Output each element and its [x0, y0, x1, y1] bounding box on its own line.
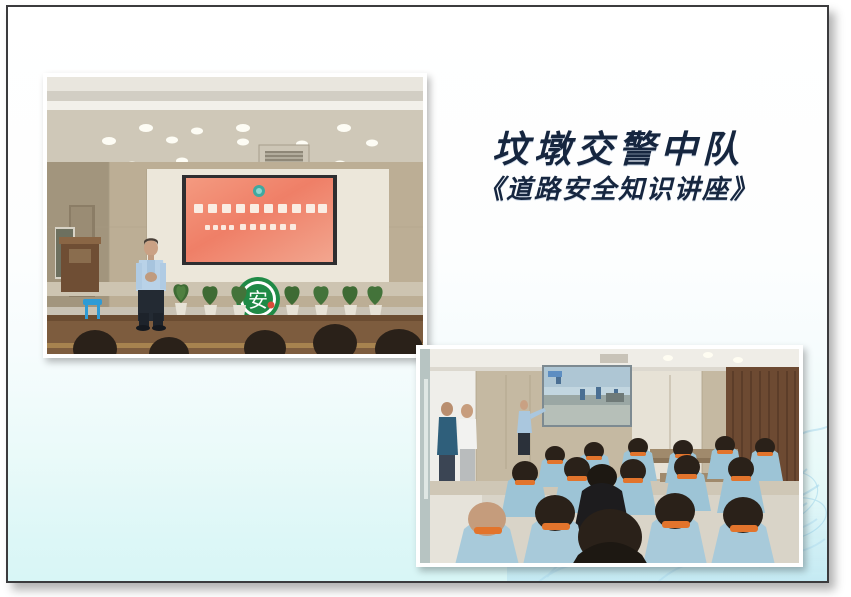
photo-lecture-hall-image: 安: [47, 77, 423, 354]
svg-text:安: 安: [248, 288, 268, 312]
photo-audience: [416, 345, 803, 567]
headline-block: 坟墩交警中队 《道路安全知识讲座》: [448, 129, 788, 206]
photo-lecture-hall: 安: [43, 73, 427, 358]
headline-sub: 《道路安全知识讲座》: [448, 176, 788, 206]
photo-audience-image: [420, 349, 799, 563]
slide-canvas: 安: [0, 0, 851, 597]
slide-frame: 安: [6, 5, 829, 583]
headline-main: 坟墩交警中队: [448, 129, 788, 170]
